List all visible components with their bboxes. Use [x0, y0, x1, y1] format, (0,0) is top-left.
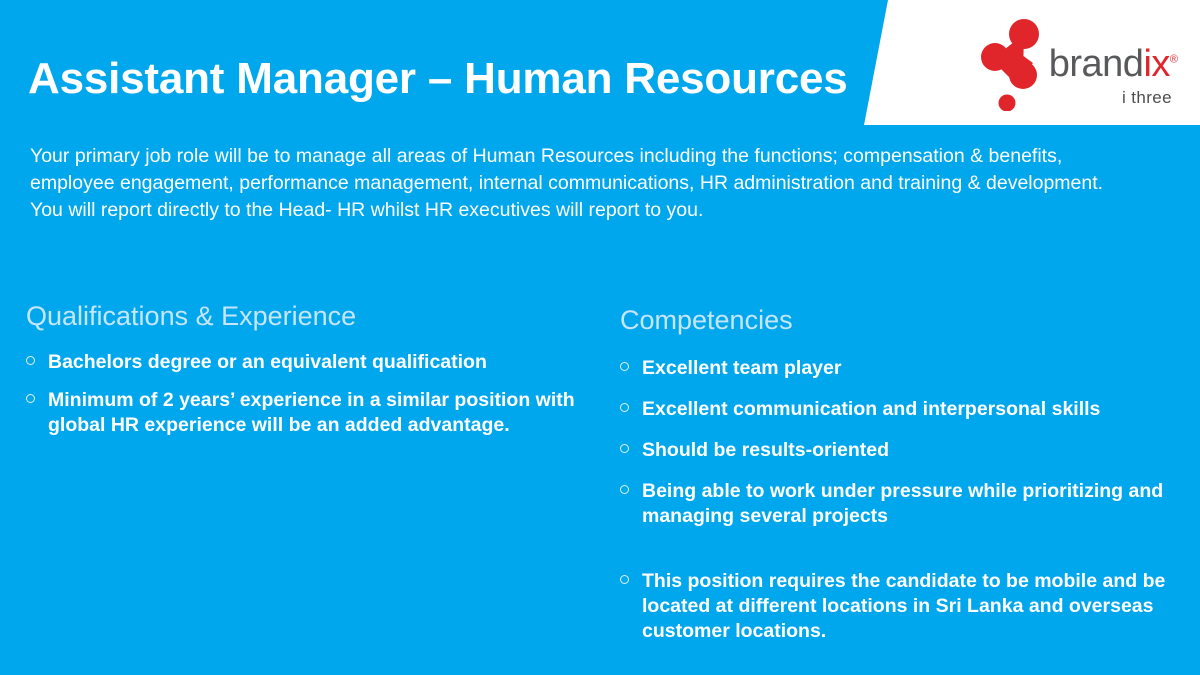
wordmark-ix: ix	[1143, 43, 1169, 85]
list-item: Bachelors degree or an equivalent qualif…	[26, 350, 596, 375]
qualifications-column: Qualifications & Experience Bachelors de…	[26, 300, 596, 451]
list-item-text: Minimum of 2 years’ experience in a simi…	[48, 388, 596, 438]
logo-banner: brandix® i three	[860, 0, 1200, 125]
qualifications-list: Bachelors degree or an equivalent qualif…	[26, 350, 596, 438]
ring-bullet-icon	[620, 356, 642, 373]
competencies-heading: Competencies	[620, 304, 1180, 336]
list-item: This position requires the candidate to …	[620, 569, 1180, 644]
brandix-wordmark: brandix®	[1049, 45, 1178, 83]
ring-bullet-icon	[26, 350, 48, 367]
wordmark-brand: brand	[1049, 43, 1144, 85]
list-item-text: Being able to work under pressure while …	[642, 479, 1180, 529]
list-item: Should be results-oriented	[620, 438, 1180, 463]
ring-bullet-icon	[620, 397, 642, 414]
slide-canvas: brandix® i three Assistant Manager – Hum…	[0, 0, 1200, 675]
ring-bullet-icon	[620, 569, 642, 586]
ring-bullet-icon	[620, 479, 642, 496]
page-title: Assistant Manager – Human Resources	[28, 56, 848, 102]
list-item-text: Excellent communication and interpersona…	[642, 397, 1100, 422]
logo-tagline: i three	[1122, 88, 1172, 108]
registered-trademark-icon: ®	[1170, 53, 1178, 65]
list-item: Minimum of 2 years’ experience in a simi…	[26, 388, 596, 438]
qualifications-heading: Qualifications & Experience	[26, 300, 596, 332]
list-item-text: This position requires the candidate to …	[642, 569, 1180, 644]
competencies-list: Excellent team player Excellent communic…	[620, 356, 1180, 644]
competencies-column: Competencies Excellent team player Excel…	[620, 300, 1180, 660]
brandix-molecule-icon	[981, 19, 1043, 111]
brandix-logo: brandix® i three	[981, 17, 1178, 111]
list-item-text: Excellent team player	[642, 356, 841, 381]
list-item-text: Should be results-oriented	[642, 438, 889, 463]
ring-bullet-icon	[26, 388, 48, 405]
list-item: Excellent communication and interpersona…	[620, 397, 1180, 422]
list-item: Being able to work under pressure while …	[620, 479, 1180, 529]
intro-paragraph: Your primary job role will be to manage …	[30, 143, 1140, 224]
ring-bullet-icon	[620, 438, 642, 455]
list-item-text: Bachelors degree or an equivalent qualif…	[48, 350, 487, 375]
list-item: Excellent team player	[620, 356, 1180, 381]
brandix-wordmark-block: brandix® i three	[1049, 45, 1178, 108]
